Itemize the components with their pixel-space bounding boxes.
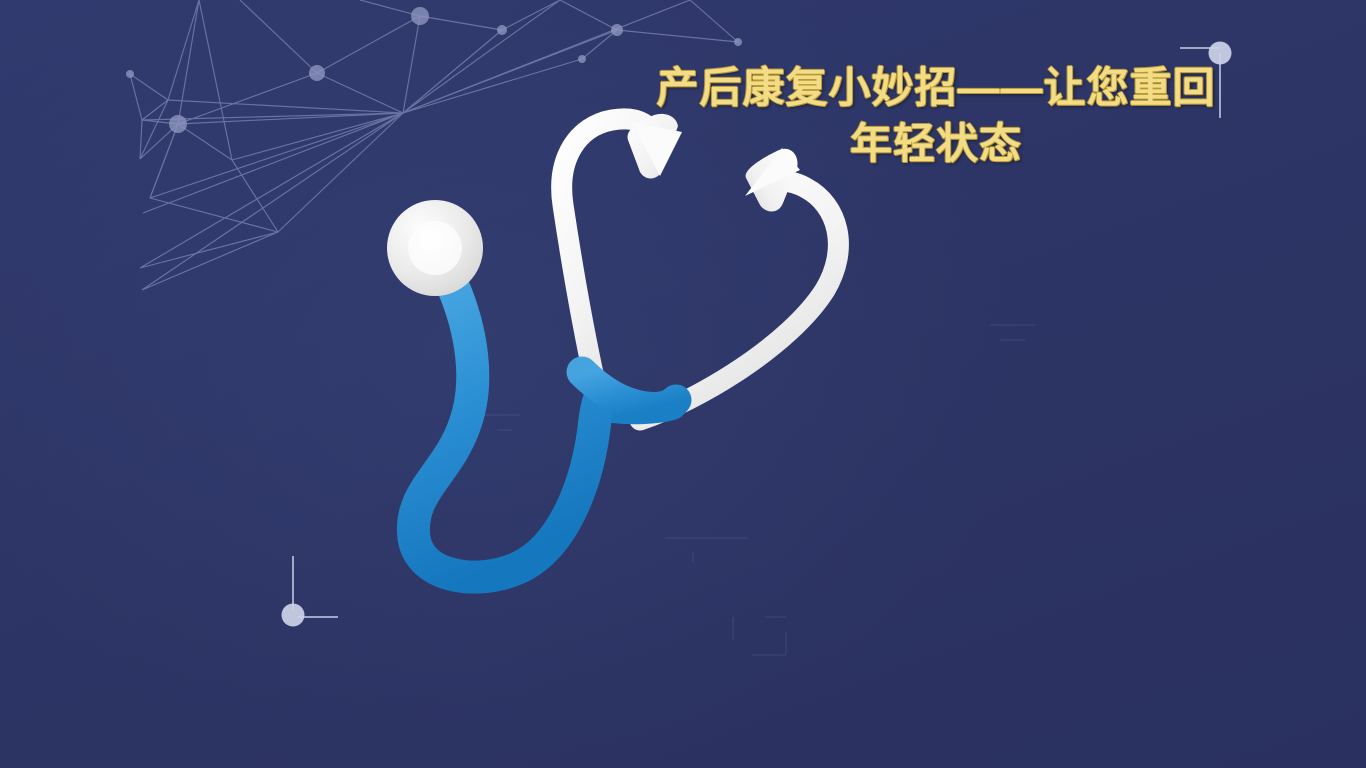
page-title: 产后康复小妙招——让您重回 年轻状态 — [636, 60, 1236, 173]
title-line-1: 产后康复小妙招——让您重回 — [636, 60, 1236, 116]
title-card-stage: 产后康复小妙招——让您重回 年轻状态 — [0, 0, 1366, 768]
chest-piece-diaphragm — [408, 221, 462, 275]
blue-tube-y-junction — [582, 372, 676, 407]
title-line-2: 年轻状态 — [636, 116, 1236, 172]
ear-tube-right-white — [640, 181, 838, 420]
